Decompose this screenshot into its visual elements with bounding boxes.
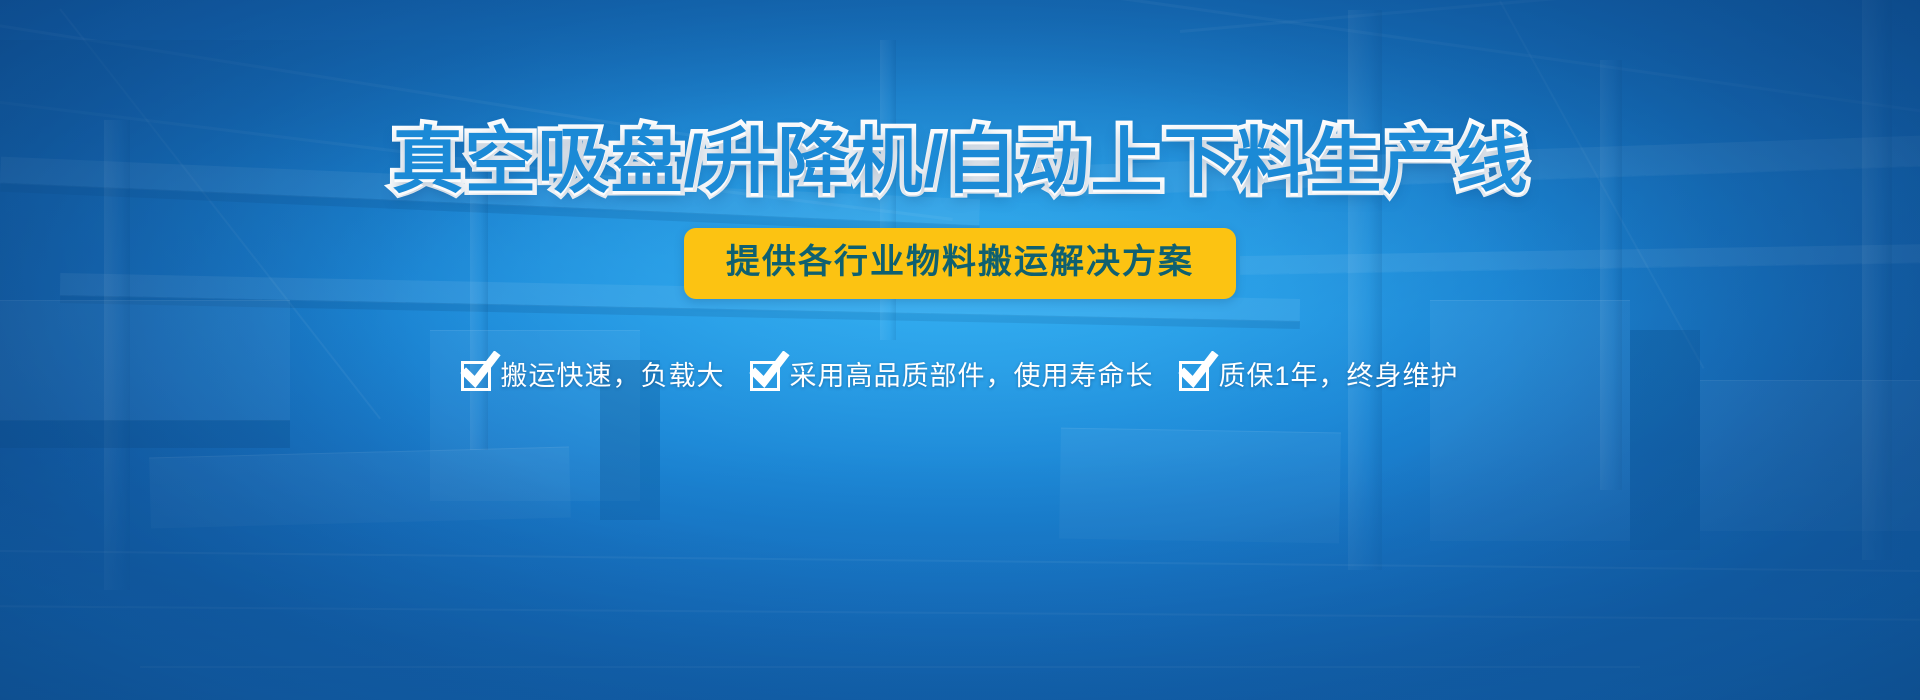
feature-label: 采用高品质部件，使用寿命长 xyxy=(789,363,1153,390)
banner-content: 真空吸盘/升降机/自动上下料生产线 提供各行业物料搬运解决方案 搬运快速，负载大… xyxy=(0,0,1920,700)
banner-headline: 真空吸盘/升降机/自动上下料生产线 xyxy=(391,126,1528,198)
check-mark-icon xyxy=(1179,361,1209,391)
banner-subtitle-pill: 提供各行业物料搬运解决方案 xyxy=(684,228,1236,299)
feature-item: 搬运快速，负载大 xyxy=(461,361,724,391)
feature-label: 质保1年，终身维护 xyxy=(1218,363,1458,390)
check-mark-icon xyxy=(461,361,491,391)
promo-banner: 真空吸盘/升降机/自动上下料生产线 提供各行业物料搬运解决方案 搬运快速，负载大… xyxy=(0,0,1920,700)
feature-item: 采用高品质部件，使用寿命长 xyxy=(750,361,1153,391)
feature-list: 搬运快速，负载大 采用高品质部件，使用寿命长 质保1年，终身维护 xyxy=(461,361,1458,391)
check-mark-icon xyxy=(750,361,780,391)
feature-item: 质保1年，终身维护 xyxy=(1179,361,1458,391)
feature-label: 搬运快速，负载大 xyxy=(500,363,724,390)
